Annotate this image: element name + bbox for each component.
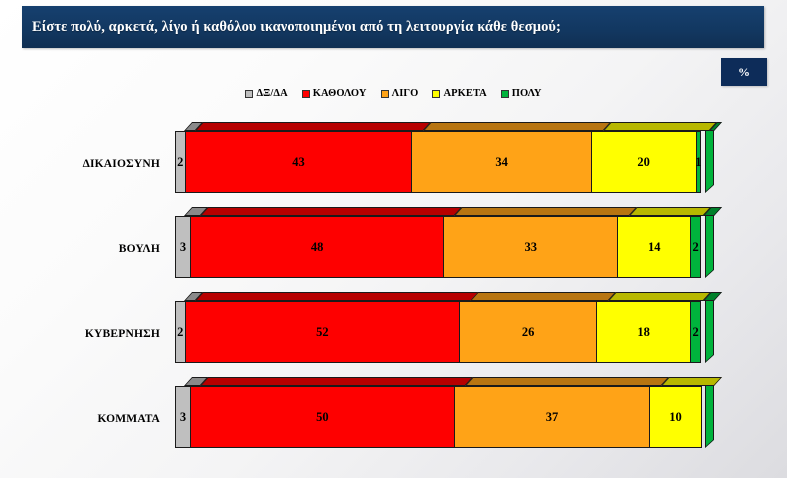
bar-segment-top — [629, 207, 711, 216]
bar-segment-top — [661, 377, 722, 386]
legend-item-label: ΚΑΘΟΛΟΥ — [313, 88, 367, 99]
bar-segment: 20 — [591, 131, 697, 193]
bar-segment: 50 — [190, 386, 455, 448]
bar-side-face — [705, 208, 714, 278]
bar-segment-top — [603, 122, 717, 131]
legend-item: ΚΑΘΟΛΟΥ — [302, 88, 367, 99]
bar-segment: 34 — [411, 131, 591, 193]
bar-segment: 18 — [596, 301, 691, 363]
bar-side-face — [705, 123, 714, 193]
bar-segment-top — [200, 377, 473, 386]
bar-segment: 14 — [617, 216, 691, 278]
category-label: ΔΙΚΑΙΟΣΥΝΗ — [0, 158, 160, 170]
chart-bar-row: ΒΟΥΛΗ34833142 — [0, 193, 787, 278]
bar-segment: 43 — [185, 131, 413, 193]
chart-plot-area: ΔΙΚΑΙΟΣΥΝΗ24334201ΒΟΥΛΗ34833142ΚΥΒΕΡΝΗΣΗ… — [0, 108, 787, 458]
category-label: ΚΥΒΕΡΝΗΣΗ — [0, 328, 160, 340]
bar-segment: 26 — [459, 301, 597, 363]
bar-segment-top — [608, 292, 711, 301]
bar-segment-value: 2 — [177, 156, 183, 169]
bar-front-face: 3503710 — [175, 386, 702, 448]
bar-segment-value: 43 — [292, 156, 305, 169]
legend-item-label: ΔΞ/ΔΑ — [256, 88, 287, 99]
bar-segment-top — [470, 292, 616, 301]
chart-bar-row: ΔΙΚΑΙΟΣΥΝΗ24334201 — [0, 108, 787, 193]
legend-item-label: ΠΟΛΥ — [512, 88, 542, 99]
bar-segment-value: 34 — [495, 156, 508, 169]
chart-legend: ΔΞ/ΔΑΚΑΘΟΛΟΥΛΙΓΟΑΡΚΕΤΑΠΟΛΥ — [0, 88, 787, 99]
bar-front-face: 25226182 — [175, 301, 701, 363]
bar-segment-value: 18 — [637, 326, 650, 339]
bar-segment: 3 — [175, 216, 191, 278]
bar-segment-top — [195, 122, 431, 131]
bar-segment-value: 33 — [524, 241, 537, 254]
bar-segment: 10 — [649, 386, 702, 448]
legend-item: ΠΟΛΥ — [501, 88, 542, 99]
bar-segment-value: 50 — [316, 411, 329, 424]
bar-segment-top — [465, 377, 669, 386]
bar-segment-value: 20 — [637, 156, 650, 169]
bar-segment: 3 — [175, 386, 191, 448]
legend-swatch-icon — [302, 90, 310, 98]
legend-swatch-icon — [245, 90, 253, 98]
legend-swatch-icon — [432, 90, 440, 98]
bar-segment-value: 2 — [693, 326, 699, 339]
bar-segment: 52 — [185, 301, 461, 363]
bar-segment-value: 1 — [695, 156, 701, 169]
bar-segment: 2 — [690, 301, 701, 363]
bar-side-face — [705, 378, 714, 448]
bar-segment: 2 — [690, 216, 701, 278]
bar-side-face — [705, 293, 714, 363]
bar-front-face: 34833142 — [175, 216, 701, 278]
bar-segment-value: 3 — [180, 411, 186, 424]
category-label: ΒΟΥΛΗ — [0, 243, 160, 255]
bar-segment-value: 52 — [316, 326, 329, 339]
legend-swatch-icon — [381, 90, 389, 98]
legend-item-label: ΛΙΓΟ — [392, 88, 419, 99]
bar-segment-top — [423, 122, 611, 131]
legend-item: ΛΙΓΟ — [381, 88, 419, 99]
bar-segment: 37 — [454, 386, 650, 448]
bar-front-face: 24334201 — [175, 131, 701, 193]
bar-segment: 33 — [443, 216, 618, 278]
legend-item: ΑΡΚΕΤΑ — [432, 88, 486, 99]
category-label: ΚΟΜΜΑΤΑ — [0, 413, 160, 425]
chart-bar-row: ΚΟΜΜΑΤΑ3503710 — [0, 363, 787, 448]
percent-unit-badge: % — [721, 58, 767, 86]
legend-item-label: ΑΡΚΕΤΑ — [443, 88, 486, 99]
bar-segment-value: 48 — [311, 241, 324, 254]
legend-swatch-icon — [501, 90, 509, 98]
bar-segment: 1 — [696, 131, 701, 193]
bar-segment-value: 2 — [693, 241, 699, 254]
bar-segment-value: 2 — [177, 326, 183, 339]
bar-segment-value: 10 — [669, 411, 682, 424]
bar-segment-top — [454, 207, 637, 216]
bar-segment-value: 3 — [180, 241, 186, 254]
page-title: Είστε πολύ, αρκετά, λίγο ή καθόλου ικανο… — [32, 19, 561, 36]
bar-segment-top — [195, 292, 479, 301]
bar-segment-value: 14 — [648, 241, 661, 254]
title-banner: Είστε πολύ, αρκετά, λίγο ή καθόλου ικανο… — [22, 6, 764, 48]
bar-segment: 48 — [190, 216, 444, 278]
bar-segment-value: 37 — [546, 411, 559, 424]
legend-item: ΔΞ/ΔΑ — [245, 88, 287, 99]
bar-segment-value: 26 — [522, 326, 535, 339]
bar-segment-top — [200, 207, 462, 216]
chart-bar-row: ΚΥΒΕΡΝΗΣΗ25226182 — [0, 278, 787, 363]
